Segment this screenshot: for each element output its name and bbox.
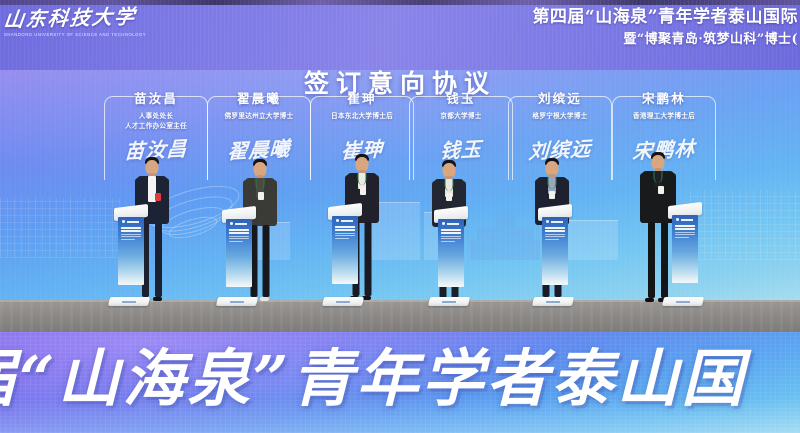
gate-silhouette	[470, 206, 540, 260]
event-title-line1: 第四届“山海泉”青年学者泰山国际	[258, 8, 798, 28]
person-badge	[360, 187, 366, 195]
grid-decor-right	[690, 190, 800, 260]
podium-base-logo	[546, 301, 560, 303]
person-badge	[549, 191, 555, 199]
person-badge	[446, 193, 452, 201]
card-affiliation: 佛罗里达州立大学博士	[207, 112, 311, 122]
podium-logo-icon	[546, 220, 564, 224]
person-lanyard	[548, 177, 557, 189]
card-affiliation: 格罗宁根大学博士	[508, 112, 612, 122]
conference-stage-photo: 山东科技大学 SHANDONG UNIVERSITY OF SCIENCE AN…	[0, 0, 800, 433]
podium-3	[328, 205, 362, 305]
podium-panel	[118, 217, 144, 285]
podium-text-block	[545, 227, 565, 241]
card-name: 崔珅	[340, 88, 383, 107]
podium-2	[222, 208, 256, 305]
university-logo: 山东科技大学 SHANDONG UNIVERSITY OF SCIENCE AN…	[4, 8, 134, 54]
card-name: 苗汝昌	[127, 88, 185, 107]
podium-text-block	[675, 225, 695, 239]
podium-panel	[332, 216, 358, 284]
card-affiliation: 日本东北大学博士后	[310, 112, 414, 122]
podium-text-block	[121, 227, 141, 241]
grid-decor-left	[0, 198, 120, 258]
person-leg	[661, 222, 668, 298]
banner-glow	[0, 399, 800, 433]
ceiling-strip	[0, 0, 800, 5]
person-badge	[155, 193, 161, 201]
person-shoe	[260, 297, 269, 301]
person-arm-right	[161, 178, 169, 224]
card-name: 翟晨曦	[230, 88, 288, 107]
podium-6	[668, 204, 702, 305]
person-lanyard	[654, 171, 663, 183]
person-legs	[647, 222, 669, 300]
podium-base-logo	[336, 301, 350, 303]
university-logo-en: SHANDONG UNIVERSITY OF SCIENCE AND TECHN…	[4, 32, 134, 38]
card-name: 宋鹏林	[635, 88, 693, 107]
person-lanyard	[445, 179, 454, 191]
person-leg	[263, 225, 270, 297]
event-title-block: 第四届“山海泉”青年学者泰山国际 暨“博聚青岛·筑梦山科”博士(	[258, 8, 798, 47]
card-affiliation: 人事处处长 人才工作办公室主任	[104, 112, 208, 131]
person-arm-right	[269, 180, 277, 226]
podium-logo-icon	[336, 219, 354, 223]
bottom-banner-text: 届“山海泉”青年学者泰山国	[0, 346, 800, 413]
podium-4	[434, 208, 468, 305]
podium-base-logo	[230, 301, 244, 303]
podium-logo-icon	[122, 220, 140, 224]
podium-logo-icon	[676, 218, 694, 222]
person-arm-left	[640, 173, 648, 223]
podium-5	[538, 206, 572, 305]
person-shoe	[153, 297, 162, 301]
podium-base-logo	[676, 301, 690, 303]
card-name: 钱玉	[439, 88, 482, 107]
person-lanyard	[256, 178, 265, 190]
signatory-cards: 苗汝昌 人事处处长 人才工作办公室主任 苗汝昌 翟晨曦 佛罗里达州立大学博士 翟…	[0, 88, 800, 198]
person-arm-right	[371, 175, 379, 223]
podium-panel	[438, 219, 464, 287]
person-leg	[365, 222, 372, 296]
university-logo-cn: 山东科技大学	[3, 6, 136, 29]
person-shoe	[645, 298, 654, 302]
person-badge	[658, 186, 664, 194]
person-badge	[258, 192, 264, 200]
person-leg	[155, 223, 162, 297]
person-leg	[648, 222, 655, 298]
podium-panel	[226, 219, 252, 287]
podium-text-block	[335, 226, 355, 240]
header-led-band: 山东科技大学 SHANDONG UNIVERSITY OF SCIENCE AN…	[0, 0, 800, 70]
podium-text-block	[229, 229, 249, 243]
card-affiliation: 京都大学博士	[409, 112, 513, 122]
podium-text-block	[441, 229, 461, 243]
person-lanyard	[358, 173, 367, 185]
podium-base-logo	[442, 301, 456, 303]
card-affiliation: 香港理工大学博士后	[612, 112, 716, 122]
event-title-line2: 暨“博聚青岛·筑梦山科”博士(	[258, 33, 798, 48]
card-name: 刘缤远	[531, 88, 589, 107]
podium-panel	[542, 217, 568, 285]
podium-1	[114, 206, 148, 305]
bottom-led-banner: 届“山海泉”青年学者泰山国	[0, 332, 800, 433]
podium-panel	[672, 215, 698, 283]
podium-logo-icon	[442, 222, 460, 226]
podium-base-logo	[122, 301, 136, 303]
podium-logo-icon	[230, 222, 248, 226]
